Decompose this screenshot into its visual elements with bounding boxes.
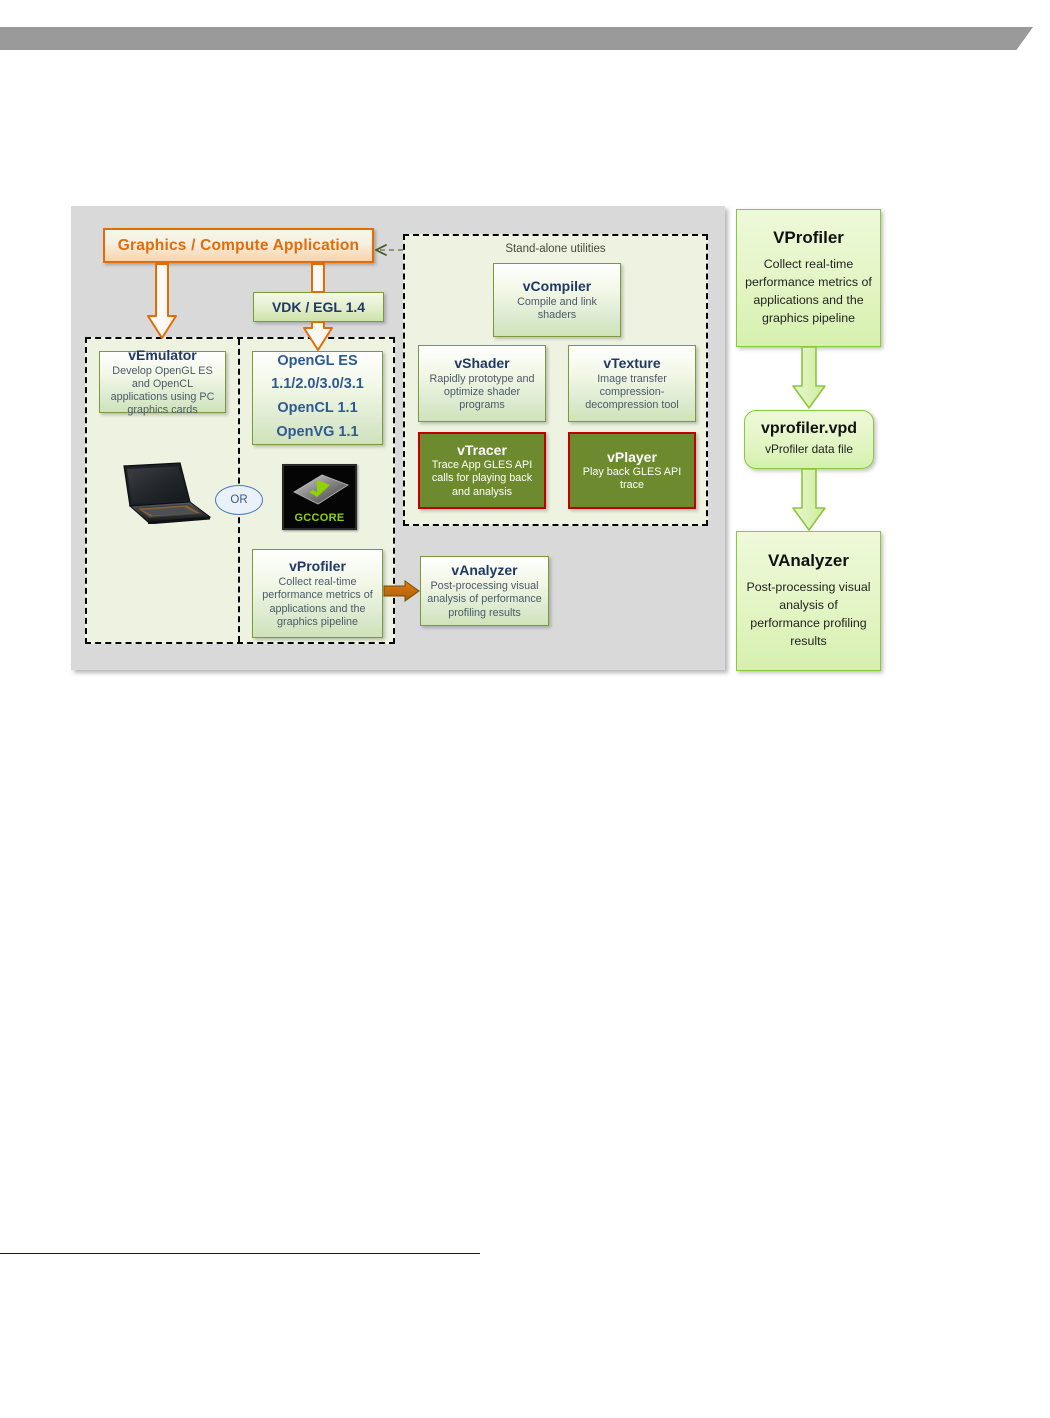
vprofiler-title: vProfiler bbox=[289, 558, 346, 574]
vtracer-title: vTracer bbox=[457, 442, 507, 458]
vprofiler-data-file-box[interactable]: vprofiler.vpd vProfiler data file bbox=[744, 410, 874, 469]
arrow-right-vprofiler-to-datafile bbox=[793, 347, 825, 408]
right-vprofiler-box[interactable]: VProfiler Collect real-time performance … bbox=[736, 209, 881, 347]
vdk-egl-label: VDK / EGL 1.4 bbox=[272, 299, 365, 315]
right-vprofiler-title: VProfiler bbox=[773, 228, 844, 248]
vtexture-description: Image transfer compression-decompression… bbox=[574, 373, 690, 413]
api-line-openvg: OpenVG 1.1 bbox=[276, 422, 358, 444]
vcompiler-description: Compile and link shaders bbox=[499, 296, 615, 322]
vprofiler-data-file-description: vProfiler data file bbox=[765, 441, 853, 458]
right-vprofiler-description: Collect real-time performance metrics of… bbox=[745, 256, 872, 328]
right-vanalyzer-box[interactable]: VAnalyzer Post-processing visual analysi… bbox=[736, 531, 881, 671]
laptop-icon bbox=[118, 462, 212, 524]
graphics-compute-application-label: Graphics / Compute Application bbox=[118, 237, 359, 255]
api-line-opencl: OpenCL 1.1 bbox=[277, 398, 357, 420]
arrow-datafile-to-vanalyzer bbox=[793, 469, 825, 530]
standalone-utilities-title: Stand-alone utilities bbox=[403, 243, 708, 255]
graphics-compute-application-box[interactable]: Graphics / Compute Application bbox=[103, 228, 374, 263]
or-connector-label: OR bbox=[215, 485, 263, 515]
api-line-opengl-es-versions: 1.1/2.0/3.0/3.1 bbox=[271, 374, 364, 396]
vplayer-box[interactable]: vPlayer Play back GLES API trace bbox=[568, 432, 696, 509]
footer-link-underline[interactable] bbox=[0, 1253, 480, 1254]
or-label: OR bbox=[230, 494, 247, 506]
vemulator-box[interactable]: vEmulator Develop OpenGL ES and OpenCL a… bbox=[99, 351, 226, 413]
vshader-title: vShader bbox=[454, 355, 509, 371]
right-vanalyzer-description: Post-processing visual analysis of perfo… bbox=[745, 579, 872, 651]
architecture-diagram: Stand-alone utilities Graphics / Compute… bbox=[0, 0, 1050, 720]
vshader-box[interactable]: vShader Rapidly prototype and optimize s… bbox=[418, 345, 546, 422]
api-line-opengl-es: OpenGL ES bbox=[277, 351, 357, 373]
vtracer-description: Trace App GLES API calls for playing bac… bbox=[424, 459, 540, 499]
vcompiler-title: vCompiler bbox=[523, 278, 591, 294]
vanalyzer-description: Post-processing visual analysis of perfo… bbox=[426, 580, 543, 620]
graphics-api-versions-box[interactable]: OpenGL ES 1.1/2.0/3.0/3.1 OpenCL 1.1 Ope… bbox=[252, 351, 383, 445]
gccore-logo-text: GCCORE bbox=[284, 512, 355, 524]
vplayer-description: Play back GLES API trace bbox=[574, 466, 690, 492]
vcompiler-box[interactable]: vCompiler Compile and link shaders bbox=[493, 263, 621, 337]
vanalyzer-box[interactable]: vAnalyzer Post-processing visual analysi… bbox=[420, 556, 549, 626]
vtexture-box[interactable]: vTexture Image transfer compression-deco… bbox=[568, 345, 696, 422]
gccore-logo: GCCORE bbox=[282, 464, 357, 530]
vplayer-title: vPlayer bbox=[607, 449, 657, 465]
vshader-description: Rapidly prototype and optimize shader pr… bbox=[424, 373, 540, 413]
vemulator-description: Develop OpenGL ES and OpenCL application… bbox=[105, 365, 220, 418]
vprofiler-box[interactable]: vProfiler Collect real-time performance … bbox=[252, 549, 383, 638]
right-vanalyzer-title: VAnalyzer bbox=[768, 551, 849, 571]
vprofiler-description: Collect real-time performance metrics of… bbox=[258, 576, 377, 629]
vprofiler-data-file-title: vprofiler.vpd bbox=[761, 420, 857, 438]
vtracer-box[interactable]: vTracer Trace App GLES API calls for pla… bbox=[418, 432, 546, 509]
vanalyzer-title: vAnalyzer bbox=[451, 562, 517, 578]
vdk-egl-box[interactable]: VDK / EGL 1.4 bbox=[253, 292, 384, 322]
vemulator-title: vEmulator bbox=[128, 347, 196, 363]
vtexture-title: vTexture bbox=[603, 355, 660, 371]
